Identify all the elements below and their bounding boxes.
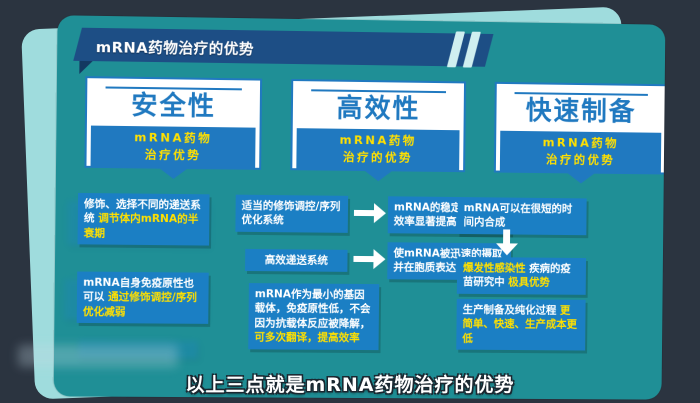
card-subtitle-line1: mRNA药物 [502,134,659,153]
middle-source-box-1: 适当的修饰调控/序列优化系统 [235,195,348,233]
right-box-top-text: mRNA可以在很短的时间内合成 [463,202,572,229]
left-box-1: 修饰、选择不同的递送系统 调节体内mRNA的半衰期 [78,193,210,246]
decorative-blur-strip [18,345,178,367]
card-heading: 高效性 [297,94,460,130]
card-rule [515,92,648,96]
card-subtitle-line2: 治疗的优势 [502,150,659,168]
header-card-efficacy: 高效性 mRNA药物 治疗的优势 [290,79,466,172]
card-subtitle: mRNA药物 治疗的优势 [296,128,459,170]
middle-source-1-text: 适当的修饰调控/序列优化系统 [241,200,340,227]
slide-title: mRNA药物治疗的优势 [96,36,254,59]
card-subtitle-line1: mRNA药物 [299,131,458,150]
main-panel: mRNA药物治疗的优势 安全性 mRNA药物 治疗优势 高效性 mR [54,15,666,399]
left-box-2: mRNA自身免疫原性也可以 通过修饰调控/序列优化减弱 [77,272,209,325]
card-heading: 安全性 [91,91,256,127]
slide-caption: 以上三点就是mRNA药物治疗的优势 [0,370,700,397]
header-card-rapid-production: 快速制备 mRNA药物 治疗的优势 [494,82,665,175]
card-pointer-icon [157,167,189,179]
right-box-bottom: 生产制备及纯化过程 更简单、快速、生产成本更低 [456,299,585,351]
right-box-middle: 爆发性感染性 疾病的疫苗研究中 极具优势 [457,257,586,295]
card-pointer-icon [362,169,394,181]
card-rule [106,86,242,90]
card-subtitle: mRNA药物 治疗优势 [91,125,256,168]
left-box-1-highlight: 调节体内mRNA的半衰期 [84,213,199,240]
right-bottom-text: 生产制备及纯化过程 [463,304,557,317]
header-card-safety: 安全性 mRNA药物 治疗优势 [84,76,262,170]
middle-note-highlight: 可多次翻译，提高效率 [254,332,359,345]
card-subtitle-line2: 治疗优势 [93,145,254,164]
right-middle-highlight-2: 极具优势 [508,277,550,289]
card-subtitle-line2: 治疗的优势 [298,148,457,167]
ribbon-fold [79,61,92,74]
middle-source-2-text: 高效递送系统 [265,254,328,267]
card-rule [311,89,446,93]
card-pointer-icon [565,172,597,184]
right-box-top: mRNA可以在很短的时间内合成 [457,197,586,235]
card-subtitle-line1: mRNA药物 [93,129,254,148]
middle-source-box-2: 高效递送系统 [245,249,348,272]
slide-stage: mRNA药物治疗的优势 安全性 mRNA药物 治疗优势 高效性 mR [0,0,700,403]
header-cards: 安全性 mRNA药物 治疗优势 高效性 mRNA药物 治疗的优势 [56,76,665,194]
middle-note-text: mRNA作为最小的基因载体，免疫原性低，不会因为抗载体反应被降解， [254,288,370,330]
card-subtitle: mRNA药物 治疗的优势 [500,131,661,173]
card-heading: 快速制备 [500,97,661,133]
middle-note-box: mRNA作为最小的基因载体，免疫原性低，不会因为抗载体反应被降解， 可多次翻译，… [248,283,379,350]
right-middle-highlight-1: 爆发性感染性 [463,262,526,275]
